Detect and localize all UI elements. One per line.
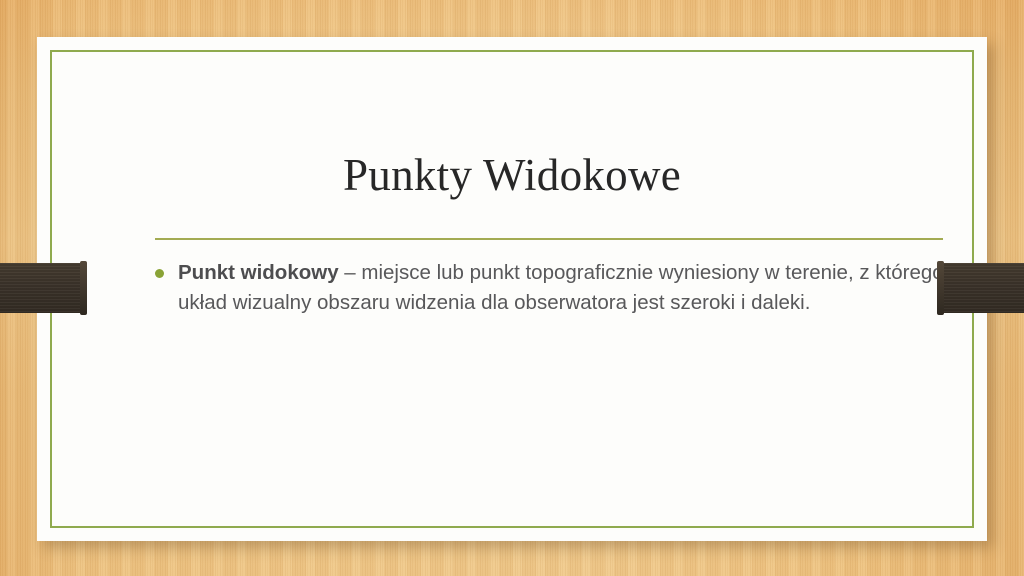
decorative-strap-left — [0, 263, 87, 313]
decorative-strap-right — [937, 263, 1024, 313]
page-title: Punkty Widokowe — [37, 153, 987, 198]
title-divider — [155, 238, 943, 240]
bullet-list: Punkt widokowy – miejsce lub punkt topog… — [150, 258, 950, 318]
list-item-text: Punkt widokowy – miejsce lub punkt topog… — [178, 261, 944, 314]
strap-cap-left — [80, 261, 87, 315]
slide-content: Punkty Widokowe Punkt widokowy – miejsce… — [37, 37, 987, 541]
list-item: Punkt widokowy – miejsce lub punkt topog… — [150, 258, 950, 318]
list-item-term: Punkt widokowy — [178, 261, 339, 284]
bullet-dot-icon — [155, 269, 164, 278]
slide-card: Punkty Widokowe Punkt widokowy – miejsce… — [37, 37, 987, 541]
slide-stage: Punkty Widokowe Punkt widokowy – miejsce… — [0, 0, 1024, 576]
strap-cap-right — [937, 261, 944, 315]
